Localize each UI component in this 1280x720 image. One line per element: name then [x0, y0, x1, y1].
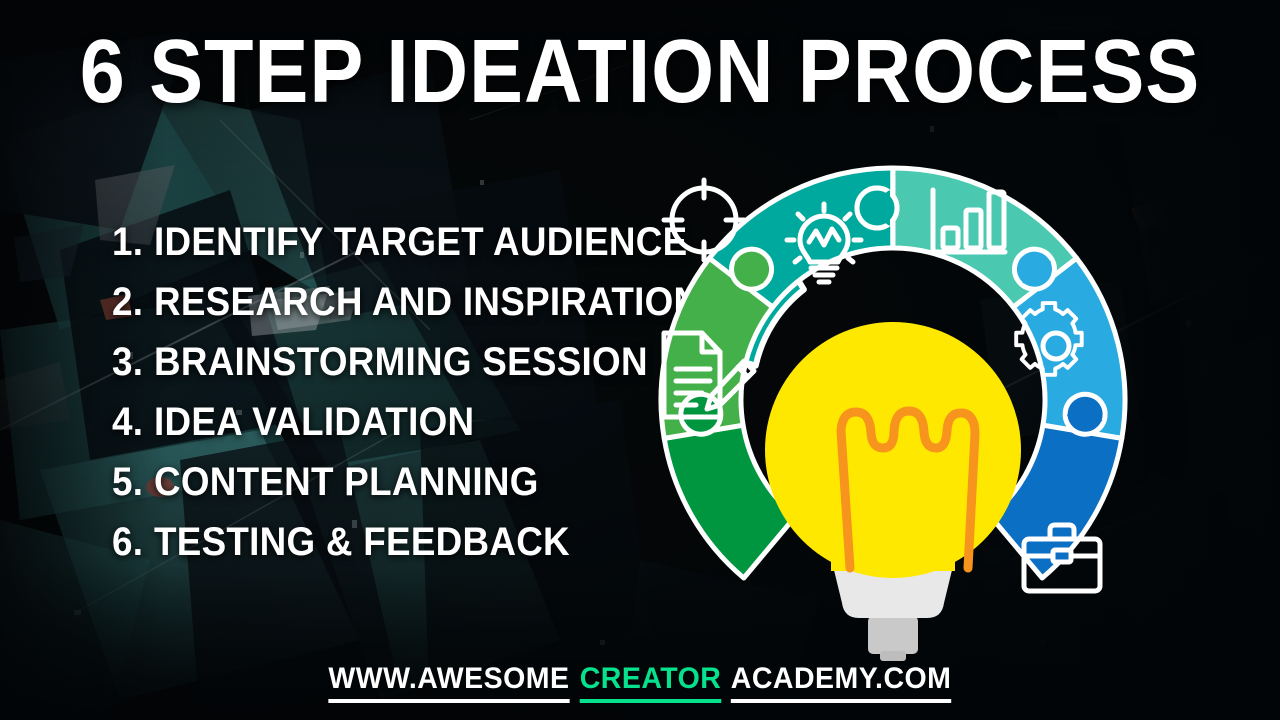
step-label: BRAINSTORMING SESSION	[154, 332, 648, 392]
step-label: RESEARCH AND INSPIRATION	[154, 272, 700, 332]
url-part-academy: ACADEMY.COM	[731, 660, 952, 703]
steps-list: 1. IDENTIFY TARGET AUDIENCE 2. RESEARCH …	[112, 212, 632, 572]
step-number: 4.	[112, 392, 151, 452]
list-item: 1. IDENTIFY TARGET AUDIENCE	[112, 212, 632, 272]
page-title: 6 STEP IDEATION PROCESS	[64, 22, 1216, 122]
footer-url[interactable]: WWW.AWESOMECREATORACADEMY.COM	[0, 660, 1280, 703]
bulb-glass	[765, 322, 1021, 578]
list-item: 3. BRAINSTORMING SESSION	[112, 332, 632, 392]
url-part-creator: CREATOR	[580, 660, 722, 703]
list-item: 2. RESEARCH AND INSPIRATION	[112, 272, 632, 332]
lightbulb-icon	[765, 322, 1021, 661]
step-label: CONTENT PLANNING	[154, 452, 539, 512]
step-label: TESTING & FEEDBACK	[154, 512, 570, 572]
step-number: 5.	[112, 452, 151, 512]
ideation-process-graphic	[628, 148, 1158, 668]
url-part-awesome: WWW.AWESOME	[329, 660, 570, 703]
list-item: 6. TESTING & FEEDBACK	[112, 512, 632, 572]
step-label: IDEA VALIDATION	[154, 392, 474, 452]
bulb-screw-base	[868, 616, 918, 654]
step-label: IDENTIFY TARGET AUDIENCE	[154, 212, 687, 272]
list-item: 4. IDEA VALIDATION	[112, 392, 632, 452]
step-number: 3.	[112, 332, 151, 392]
list-item: 5. CONTENT PLANNING	[112, 452, 632, 512]
step-number: 6.	[112, 512, 151, 572]
step-number: 1.	[112, 212, 151, 272]
puzzle-knob-top-fill	[857, 188, 897, 228]
puzzle-arc-diagram	[628, 148, 1158, 668]
step-number: 2.	[112, 272, 151, 332]
